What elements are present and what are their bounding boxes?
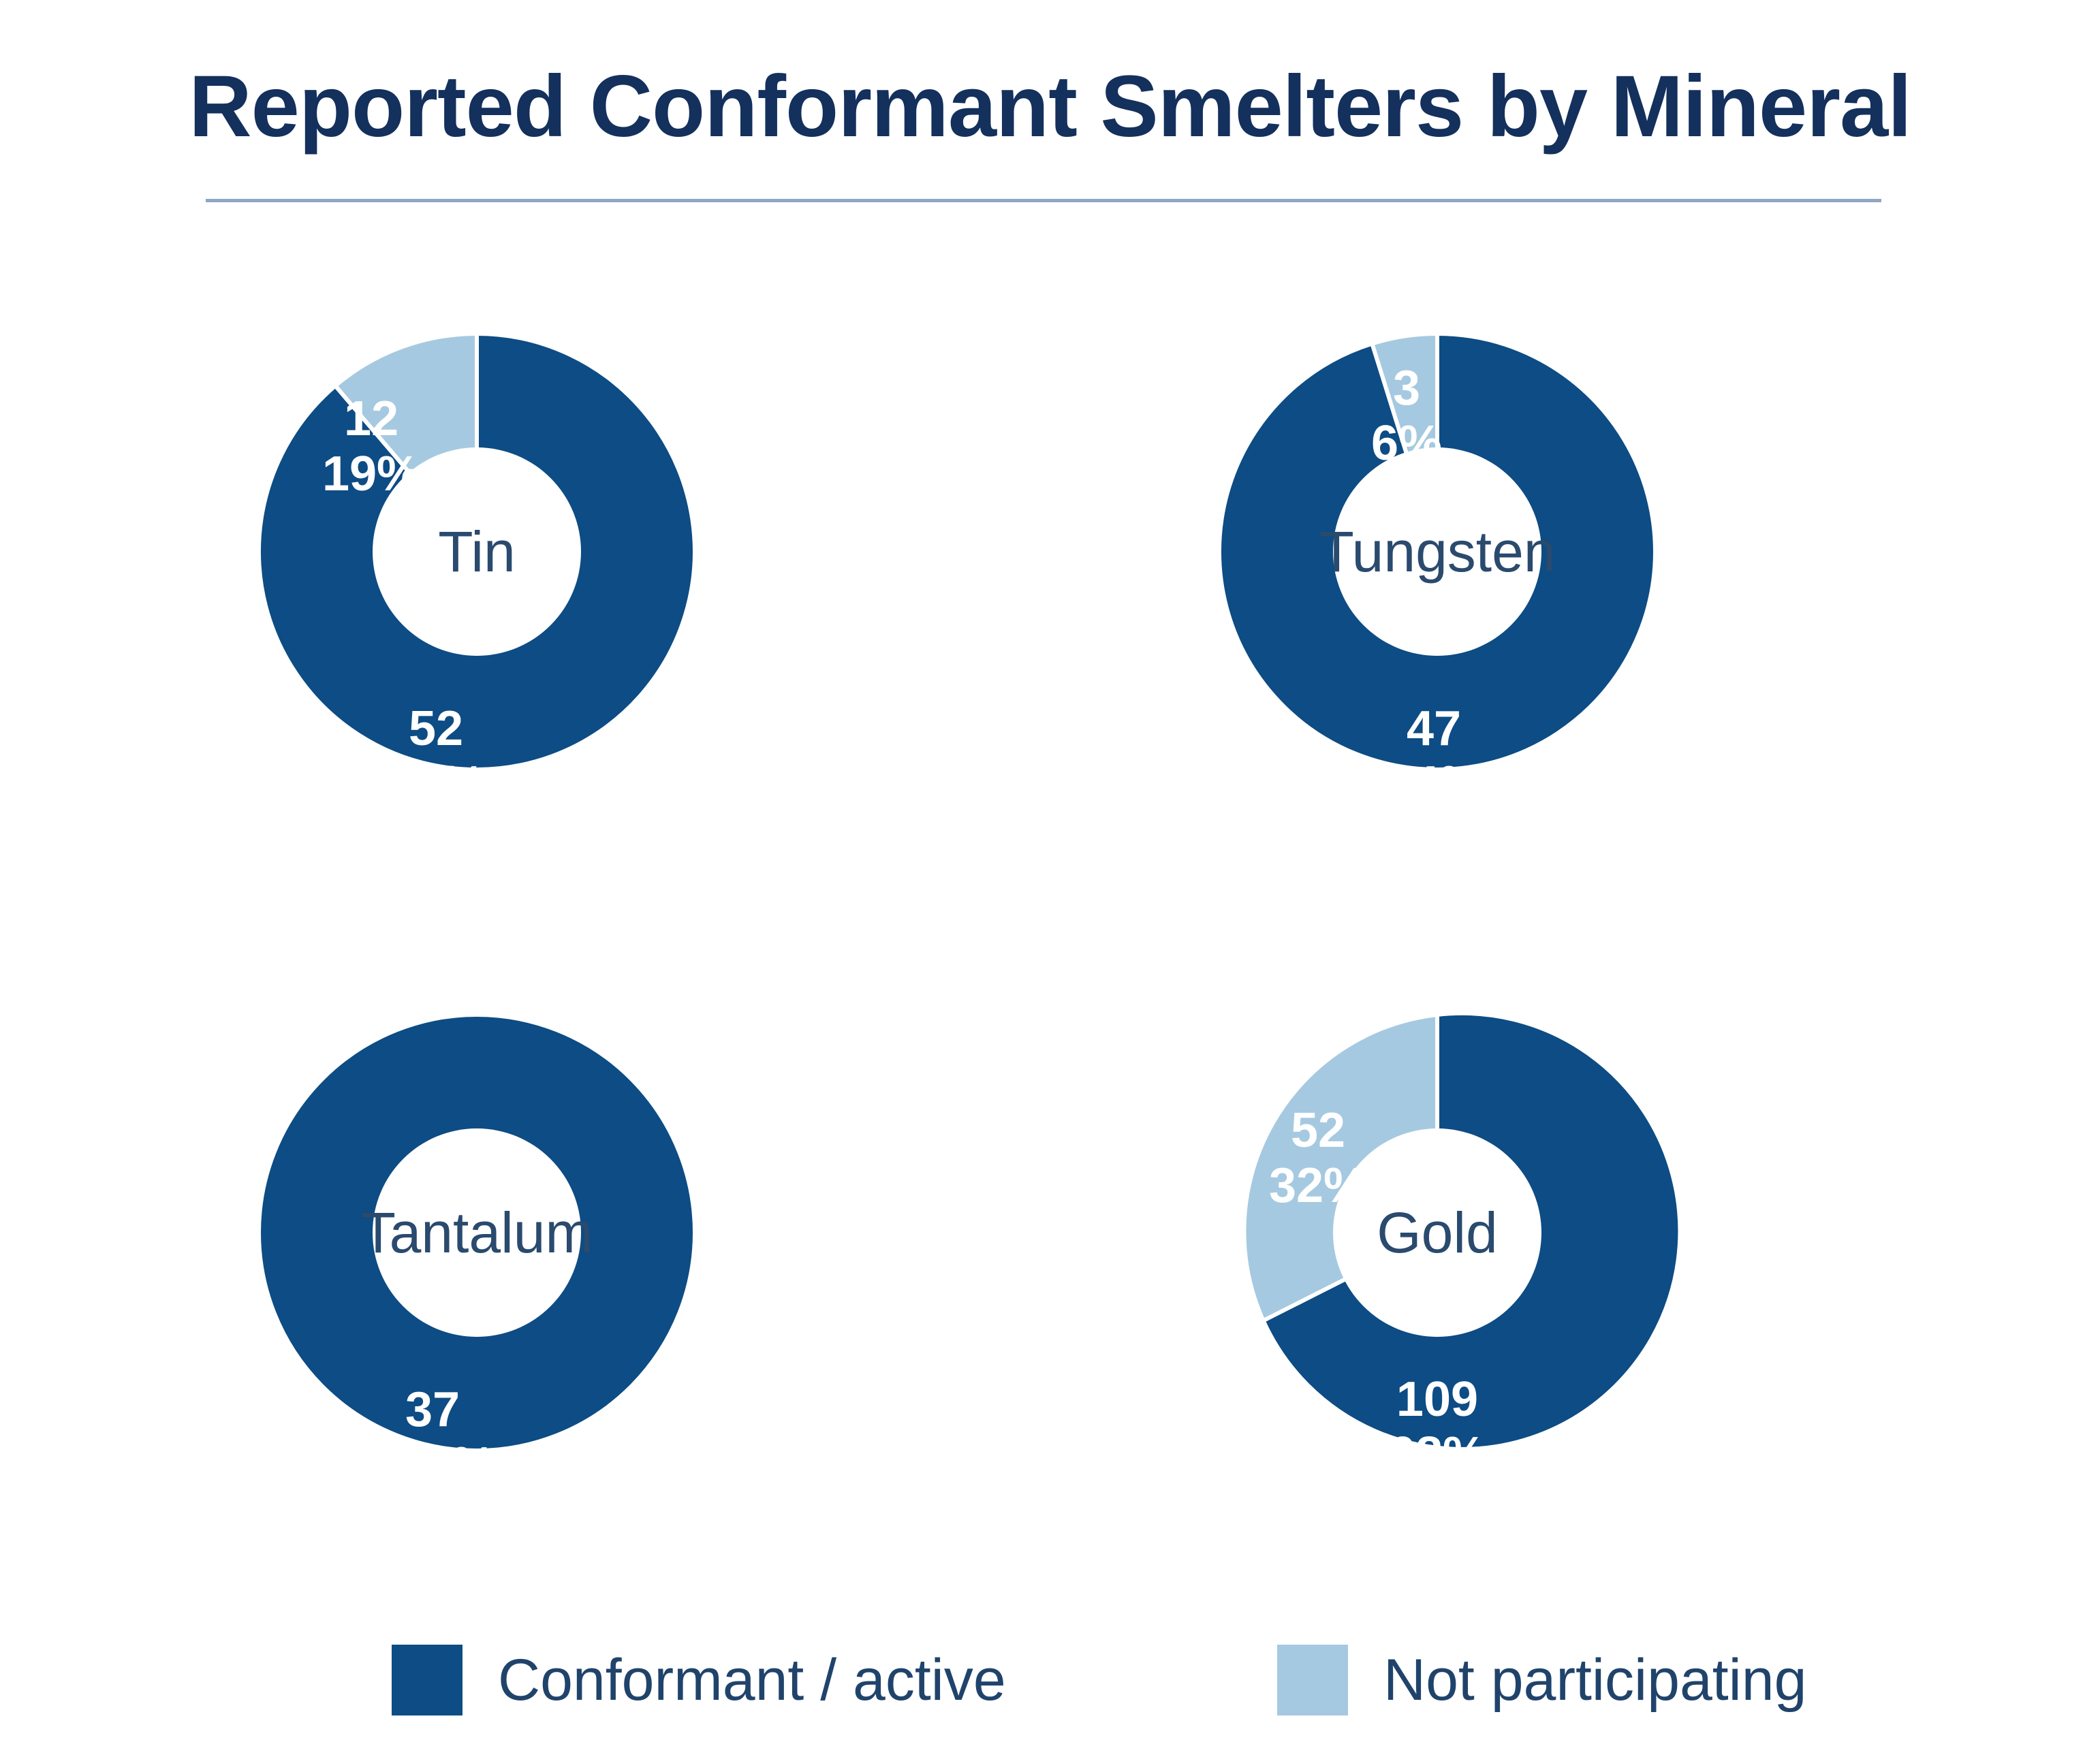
chart-legend: Conformant / active Not participating — [0, 1631, 2100, 1740]
donut-tungsten-svg — [1110, 252, 1764, 851]
title-divider — [206, 199, 1881, 202]
donut-tantalum-svg — [150, 933, 804, 1532]
donut-gold: Gold 52 32% 109 68% — [1110, 933, 1764, 1532]
donut-tantalum: Tantalum 37 100% — [150, 933, 804, 1532]
donut-panel-tungsten[interactable]: Tungsten 3 6% 47 94% — [1110, 252, 1791, 865]
donut-grid: Tin 12 19% 52 81% — [0, 245, 2100, 1580]
legend-label-conformant: Conformant / active — [498, 1647, 1006, 1714]
donut-gold-svg — [1110, 933, 1764, 1532]
donut-hole — [373, 447, 581, 656]
donut-tungsten: Tungsten 3 6% 47 94% — [1110, 252, 1764, 851]
chart-page: Reported Conformant Smelters by Mineral … — [0, 0, 2100, 1738]
donut-panel-gold[interactable]: Gold 52 32% 109 68% — [1110, 933, 1791, 1546]
legend-swatch-conformant — [392, 1645, 463, 1715]
donut-hole — [1333, 447, 1541, 656]
donut-tin-svg — [150, 252, 804, 851]
legend-item-not-participating[interactable]: Not participating — [1277, 1645, 1806, 1715]
page-title: Reported Conformant Smelters by Mineral — [0, 61, 2100, 153]
donut-panel-tin[interactable]: Tin 12 19% 52 81% — [150, 252, 831, 865]
legend-swatch-not-participating — [1277, 1645, 1348, 1715]
donut-hole — [1333, 1128, 1541, 1337]
title-block: Reported Conformant Smelters by Mineral — [0, 61, 2100, 153]
legend-label-not-participating: Not participating — [1383, 1647, 1806, 1714]
legend-item-conformant[interactable]: Conformant / active — [392, 1645, 1006, 1715]
donut-panel-tantalum[interactable]: Tantalum 37 100% — [150, 933, 831, 1546]
donut-tin: Tin 12 19% 52 81% — [150, 252, 804, 851]
donut-hole — [373, 1128, 581, 1337]
